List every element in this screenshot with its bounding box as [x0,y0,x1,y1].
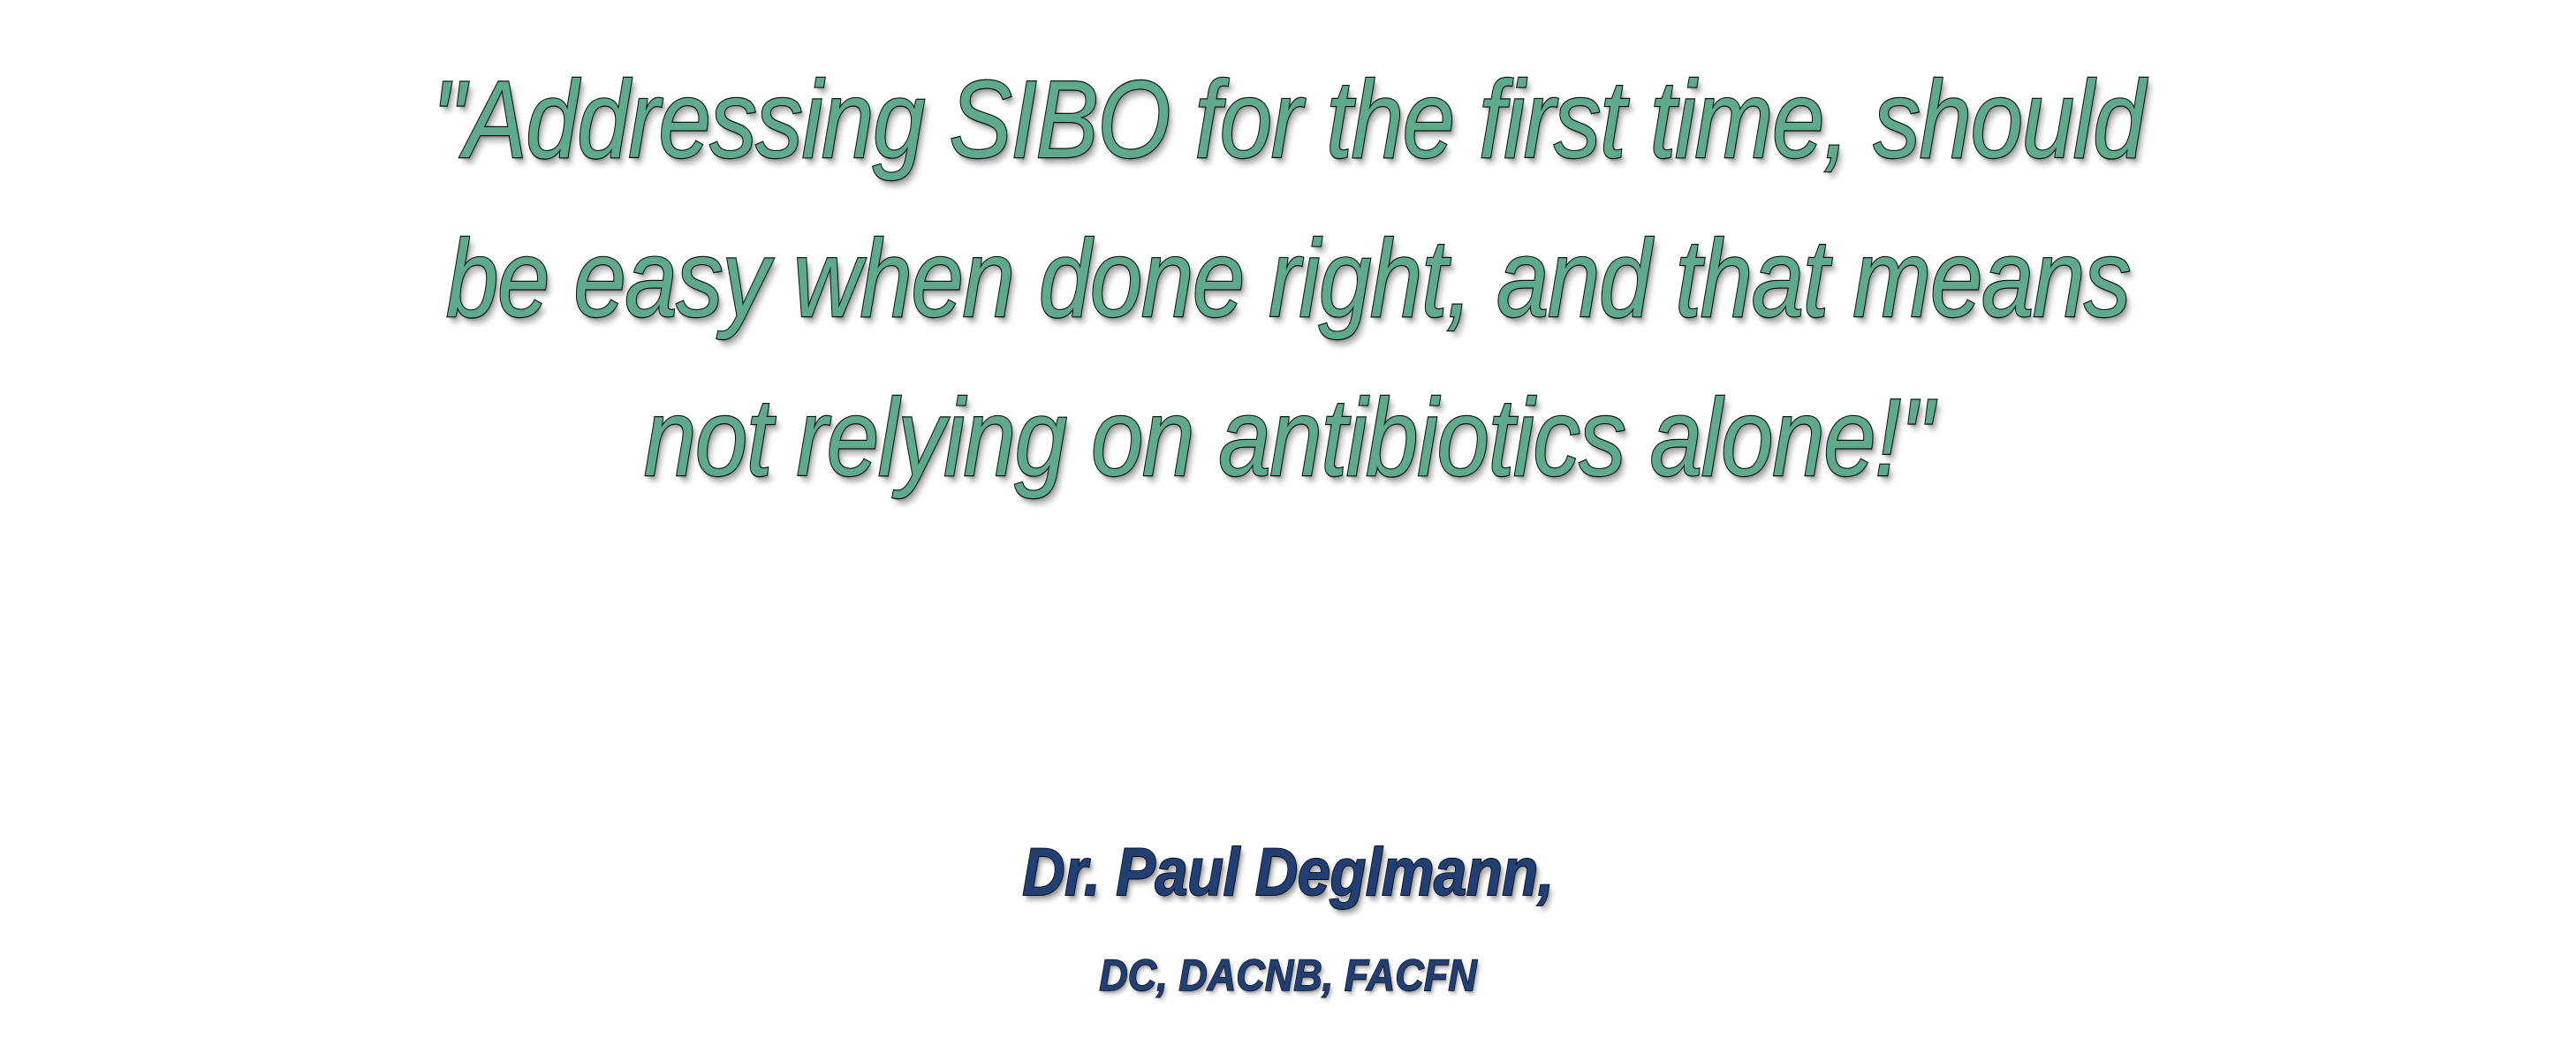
attribution-block: Dr. Paul Deglmann, DC, DACNB, FACFN [0,830,2576,1002]
quote-slide: "Addressing SIBO for the first time, sho… [0,0,2576,1046]
author-credentials: DC, DACNB, FACFN [129,949,2447,1002]
author-name: Dr. Paul Deglmann, [155,830,2421,915]
quote-line-2: be easy when done right, and that means [180,200,2396,359]
quote-line-1: "Addressing SIBO for the first time, sho… [180,41,2396,200]
quote-line-3: not relying on antibiotics alone!" [180,359,2396,518]
quote-block: "Addressing SIBO for the first time, sho… [0,41,2576,518]
